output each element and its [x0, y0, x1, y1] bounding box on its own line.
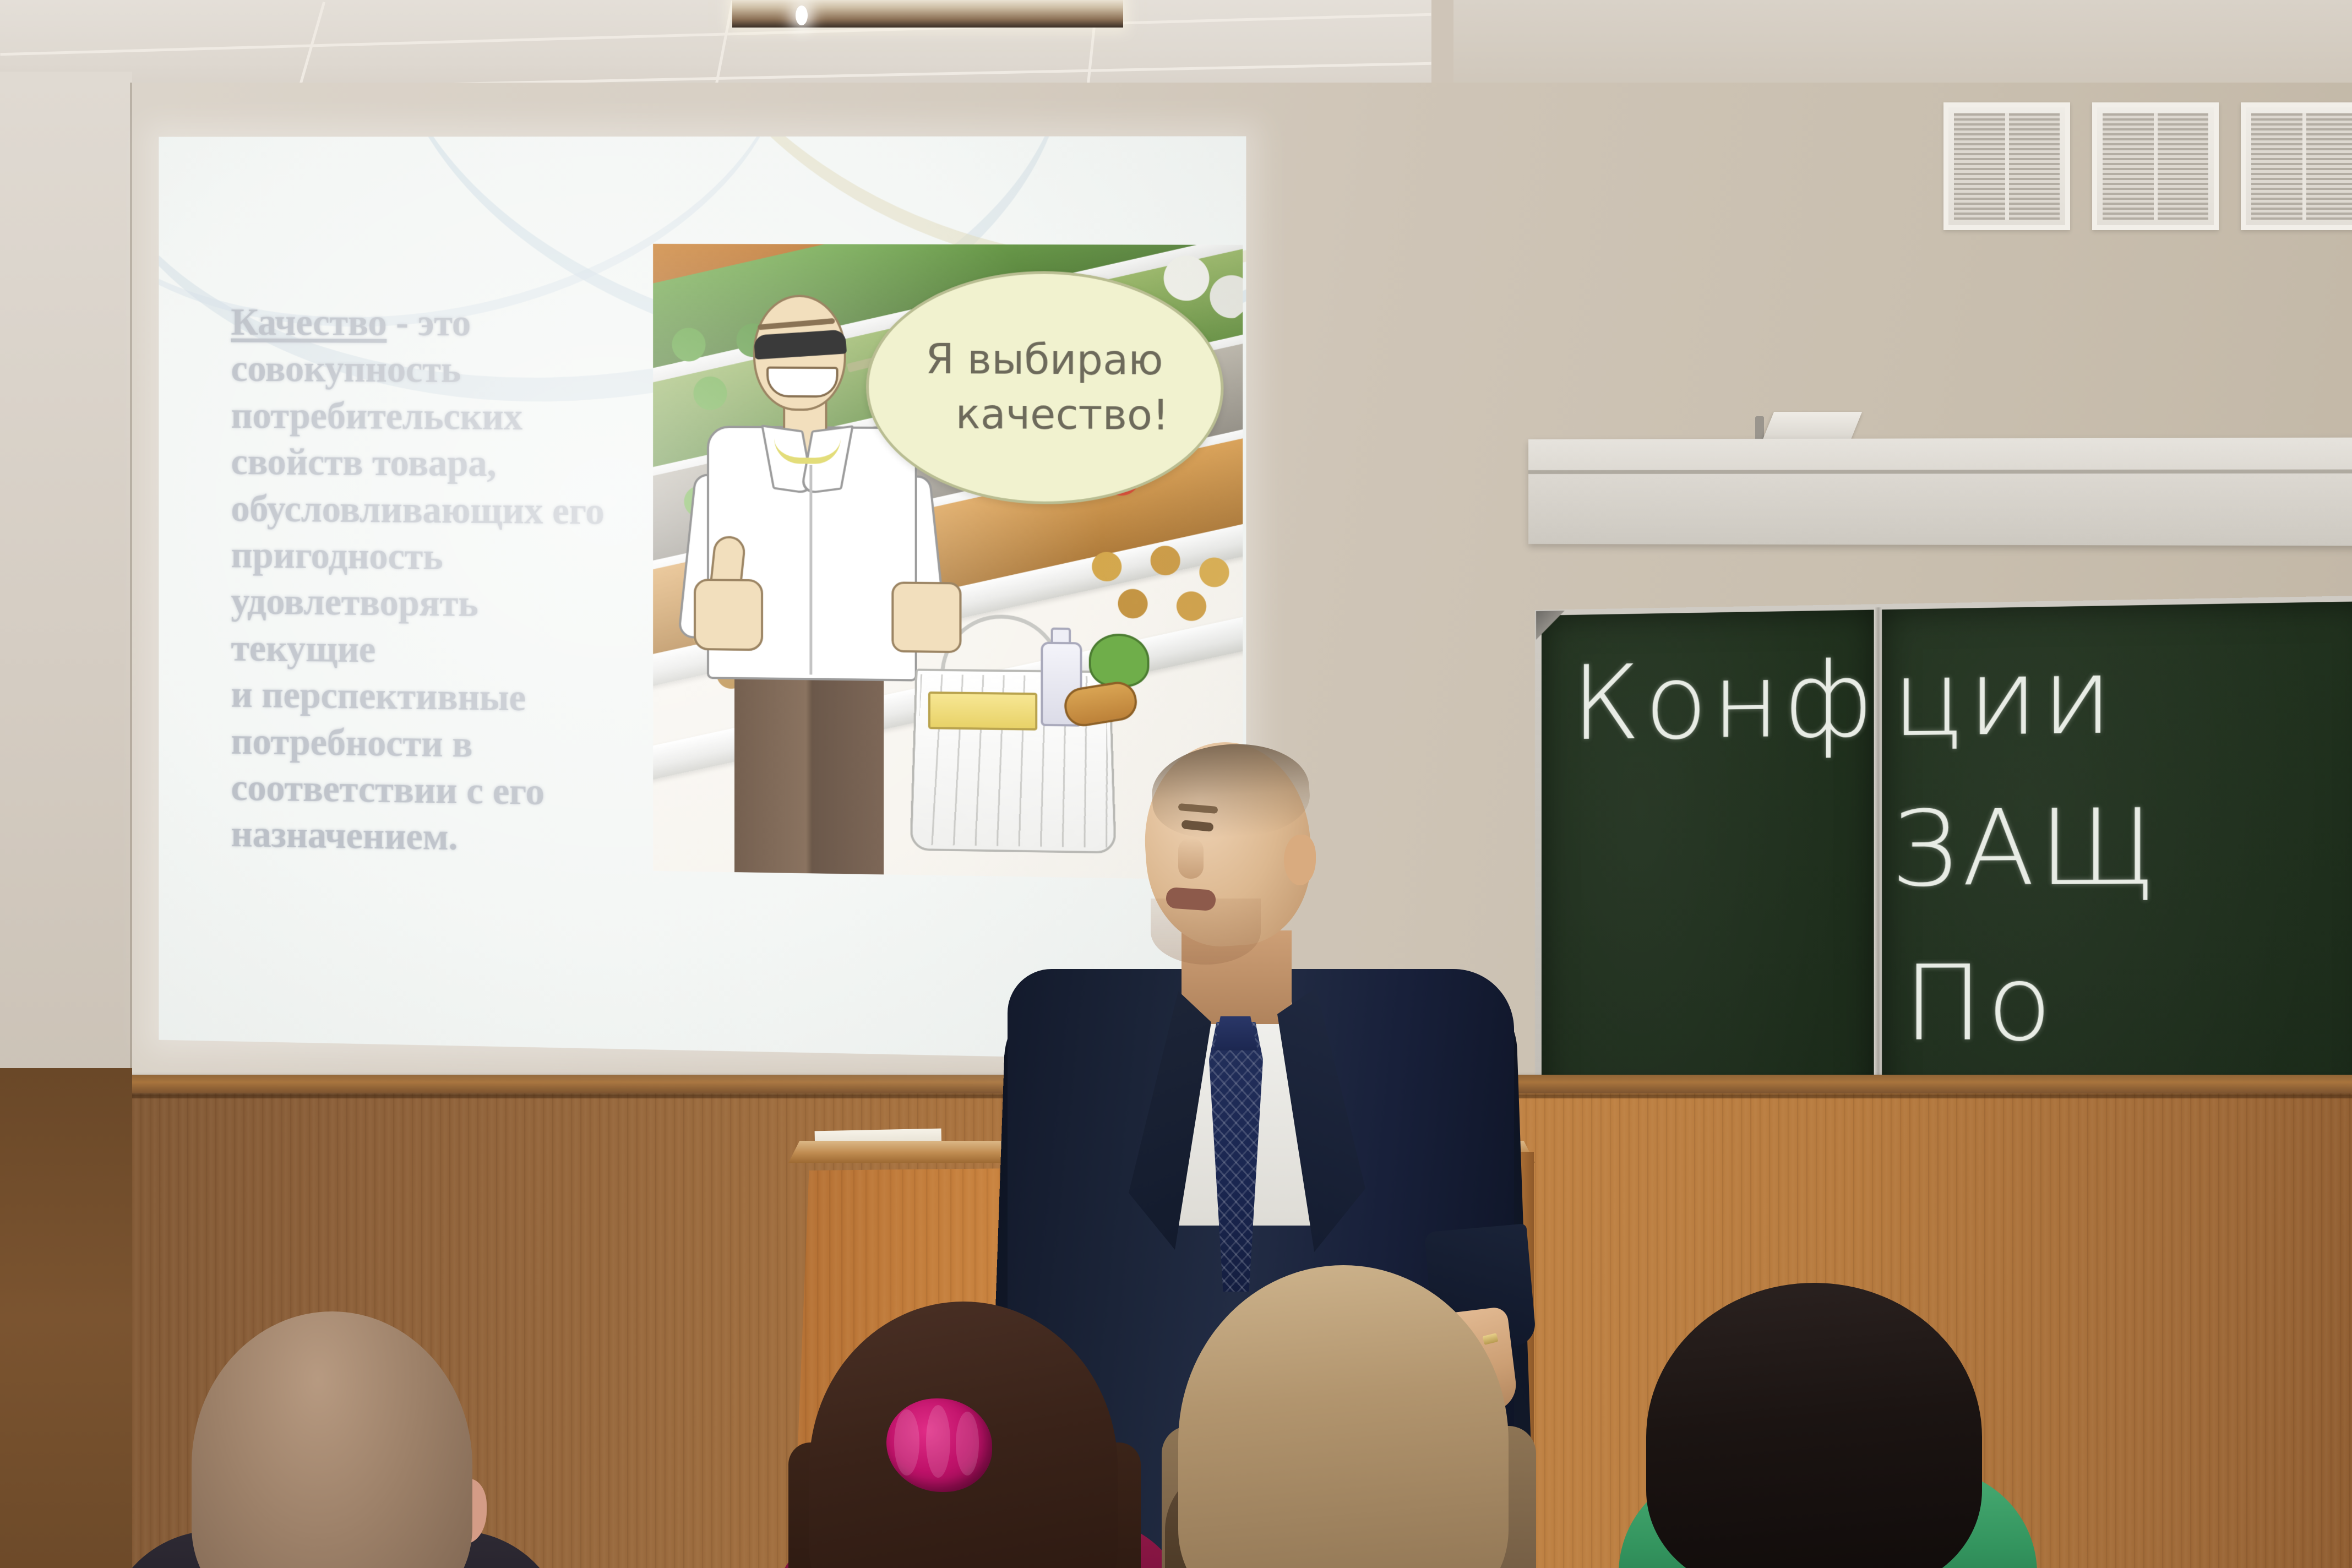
slide-line-6: пригодность: [231, 532, 611, 582]
cartoon-man-legs: [734, 668, 884, 876]
wall-corner-edge: [130, 83, 132, 1107]
ventilation-grille: [2241, 102, 2352, 230]
ventilation-grille: [1943, 102, 2070, 230]
ventilation-grille: [2092, 102, 2219, 230]
basket-item-broccoli: [1089, 633, 1150, 687]
slide-line-1-rest: - это: [386, 302, 471, 344]
cartoon-potatoes: [1074, 533, 1237, 629]
cartoon-man-hand-right: [891, 581, 961, 653]
basket-item-butter: [928, 692, 1037, 731]
cartoon-man-shirt-placket: [809, 465, 812, 674]
scrunchie-fold: [956, 1412, 979, 1476]
wall-left-return: [0, 72, 132, 1118]
projection-screen-roller-box: [1528, 438, 2352, 546]
speaker-ear: [1284, 835, 1316, 885]
grille-mullion: [2005, 113, 2009, 220]
chalk-text-line-3: ЗАЩ: [1891, 786, 2160, 910]
lecture-hall-photo: Конферен ции ЗАЩ По Качество - это совок…: [0, 0, 2352, 1568]
grille-louvers: [2251, 113, 2352, 220]
slide-line-3: потребительских: [231, 392, 611, 441]
slide-line-7: удовлетворять текущие: [231, 578, 611, 676]
slide-line-11: назначением.: [231, 811, 611, 863]
slide-line-10: соответствии с его: [231, 764, 611, 816]
speech-bubble: Я выбираю качество!: [866, 271, 1224, 505]
scrunchie-fold: [926, 1405, 950, 1478]
speaker-nose: [1178, 838, 1204, 879]
ceiling-grid-line: [0, 13, 1431, 56]
ceiling-light-fixture: [732, 0, 1123, 28]
ceiling-light-glow: [796, 6, 808, 25]
wainscot-left-return: [0, 1068, 132, 1568]
speaker-tie-knot: [1213, 1016, 1257, 1050]
speech-line-1: Я выбираю: [925, 332, 1163, 388]
slide-body-text: Качество - это совокупность потребительс…: [231, 299, 611, 863]
slide-line-8: и перспективные: [231, 671, 611, 722]
slide-line-5: обусловливающих его: [231, 485, 611, 535]
chalk-text-line-4: По: [1903, 942, 2056, 1064]
chalk-text-line-2: ции: [1892, 635, 2117, 760]
grille-mullion: [2154, 113, 2158, 220]
slide-line-4: свойств товара,: [231, 439, 611, 488]
cartoon-man-hand-left: [694, 579, 763, 651]
slide-keyword: Качество: [231, 301, 386, 344]
speech-line-2: качество!: [956, 387, 1169, 443]
speaker-mouth: [1166, 887, 1216, 911]
slide-line-9: потребности в: [231, 718, 611, 770]
roller-box-seam: [1528, 470, 2352, 474]
projected-slide: Качество - это совокупность потребительс…: [159, 136, 1246, 1061]
scrunchie-fold: [894, 1409, 919, 1476]
grille-mullion: [2302, 113, 2306, 220]
slide-line-2: совокупность: [231, 346, 611, 394]
cartoon-man-smile: [766, 367, 839, 398]
